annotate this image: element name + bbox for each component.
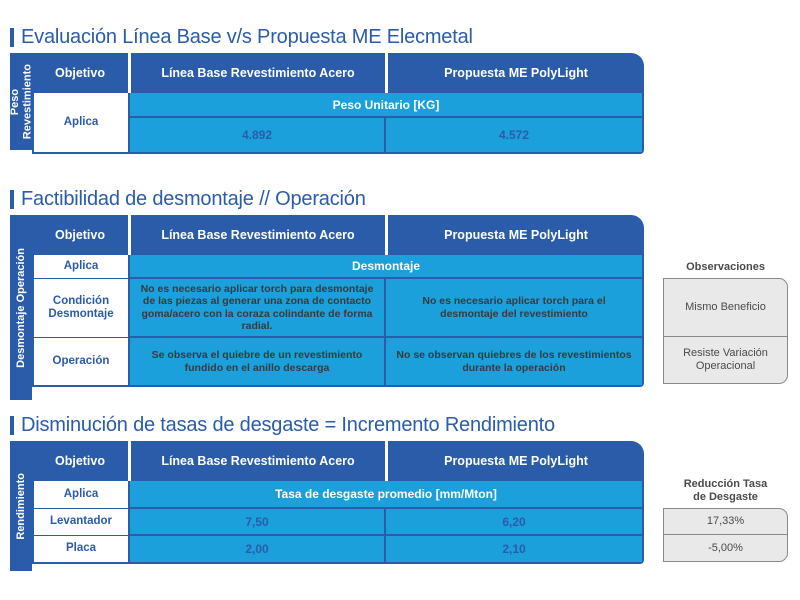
table-row-merged: Aplica Tasa de desgaste promedio [mm/Mto…	[34, 481, 642, 509]
side-label-text: Rendimiento	[15, 473, 27, 540]
panel-cell-resiste-variacion: Resiste Variación Operacional	[664, 337, 787, 383]
table-header-row: Objetivo Línea Base Revestimiento Acero …	[32, 53, 644, 93]
table-header-row: Objetivo Línea Base Revestimiento Acero …	[32, 215, 644, 255]
section-title-2: Factibilidad de desmontaje // Operación	[10, 188, 644, 211]
panel-cell-reduccion-levantador: 17,33%	[664, 509, 787, 535]
table-row: Condición Desmontaje No es necesario apl…	[34, 279, 642, 338]
panel-title-observaciones: Observaciones	[663, 261, 788, 274]
table-row: Operación Se observa el quiebre de un re…	[34, 338, 642, 385]
panel-reduccion-tasa: Reducción Tasa de Desgaste 17,33% -5,00%	[663, 478, 788, 562]
cell-proposal-levantador: 6,20	[386, 509, 642, 536]
header-propuesta: Propuesta ME PolyLight	[388, 53, 644, 93]
table-row: Placa 2,00 2,10	[34, 536, 642, 562]
table-rendimiento: Rendimiento Objetivo Línea Base Revestim…	[10, 441, 644, 571]
row-label-aplica: Aplica	[34, 481, 130, 509]
section-rendimiento: Disminución de tasas de desgaste = Incre…	[10, 414, 644, 571]
table-header-row: Objetivo Línea Base Revestimiento Acero …	[32, 441, 644, 481]
table-row: Levantador 7,50 6,20	[34, 509, 642, 536]
header-objetivo: Objetivo	[32, 53, 131, 93]
merged-value-peso-unitario: Peso Unitario [KG]	[130, 93, 642, 118]
row-label-condicion-desmontaje: Condición Desmontaje	[34, 279, 130, 338]
panel-box-reduccion-tasa: 17,33% -5,00%	[663, 508, 788, 562]
row-label-aplica: Aplica	[34, 255, 130, 279]
section-title-3: Disminución de tasas de desgaste = Incre…	[10, 414, 644, 437]
header-propuesta: Propuesta ME PolyLight	[388, 441, 644, 481]
cell-base-levantador: 7,50	[130, 509, 386, 536]
cell-proposal-placa: 2,10	[386, 536, 642, 562]
panel-box-observaciones: Mismo Beneficio Resiste Variación Operac…	[663, 278, 788, 384]
cell-base-condicion: No es necesario aplicar torch para desmo…	[130, 279, 386, 338]
section-title-text: Factibilidad de desmontaje // Operación	[21, 188, 366, 211]
side-label-text: Peso Revestimiento	[9, 64, 34, 139]
panel-observaciones: Observaciones Mismo Beneficio Resiste Va…	[663, 261, 788, 384]
header-linea-base: Línea Base Revestimiento Acero	[131, 53, 388, 93]
header-linea-base: Línea Base Revestimiento Acero	[131, 441, 388, 481]
title-accent-bar-icon	[10, 190, 14, 209]
title-accent-bar-icon	[10, 416, 14, 435]
row-label-placa: Placa	[34, 536, 130, 562]
panel-cell-reduccion-placa: -5,00%	[664, 535, 787, 561]
merged-value-desmontaje: Desmontaje	[130, 255, 642, 279]
cell-proposal-operacion: No se observan quiebres de los revestimi…	[386, 338, 642, 385]
panel-cell-mismo-beneficio: Mismo Beneficio	[664, 279, 787, 337]
header-objetivo: Objetivo	[32, 441, 131, 481]
cell-base-peso: 4.892	[130, 118, 386, 152]
table-desmontaje-operacion: Desmontaje Operación Objetivo Línea Base…	[10, 215, 644, 400]
merged-value-tasa-desgaste: Tasa de desgaste promedio [mm/Mton]	[130, 481, 642, 509]
row-label-operacion: Operación	[34, 338, 130, 385]
cell-base-placa: 2,00	[130, 536, 386, 562]
title-accent-bar-icon	[10, 28, 14, 47]
section-title-text: Evaluación Línea Base v/s Propuesta ME E…	[21, 26, 473, 49]
table-row-merged: Aplica Peso Unitario [KG]	[34, 93, 642, 118]
section-title-1: Evaluación Línea Base v/s Propuesta ME E…	[10, 26, 644, 49]
panel-title-reduccion-tasa: Reducción Tasa de Desgaste	[663, 478, 788, 504]
header-linea-base: Línea Base Revestimiento Acero	[131, 215, 388, 255]
header-propuesta: Propuesta ME PolyLight	[388, 215, 644, 255]
section-title-text: Disminución de tasas de desgaste = Incre…	[21, 414, 555, 437]
side-label-rendimiento: Rendimiento	[10, 441, 32, 571]
row-label-aplica: Aplica	[34, 93, 130, 152]
table-row-merged: Aplica Desmontaje	[34, 255, 642, 279]
header-objetivo: Objetivo	[32, 215, 131, 255]
cell-base-operacion: Se observa el quiebre de un revestimient…	[130, 338, 386, 385]
cell-proposal-condicion: No es necesario aplicar torch para el de…	[386, 279, 642, 338]
cell-proposal-peso: 4.572	[386, 118, 642, 152]
section-peso-revestimiento: Evaluación Línea Base v/s Propuesta ME E…	[10, 26, 644, 154]
table-peso-revestimiento: Peso Revestimiento Objetivo Línea Base R…	[10, 53, 644, 154]
row-label-levantador: Levantador	[34, 509, 130, 536]
side-label-desmontaje-operacion: Desmontaje Operación	[10, 215, 32, 400]
side-label-peso-revestimiento: Peso Revestimiento	[10, 53, 32, 150]
side-label-text: Desmontaje Operación	[15, 248, 27, 368]
section-desmontaje-operacion: Factibilidad de desmontaje // Operación …	[10, 188, 644, 400]
